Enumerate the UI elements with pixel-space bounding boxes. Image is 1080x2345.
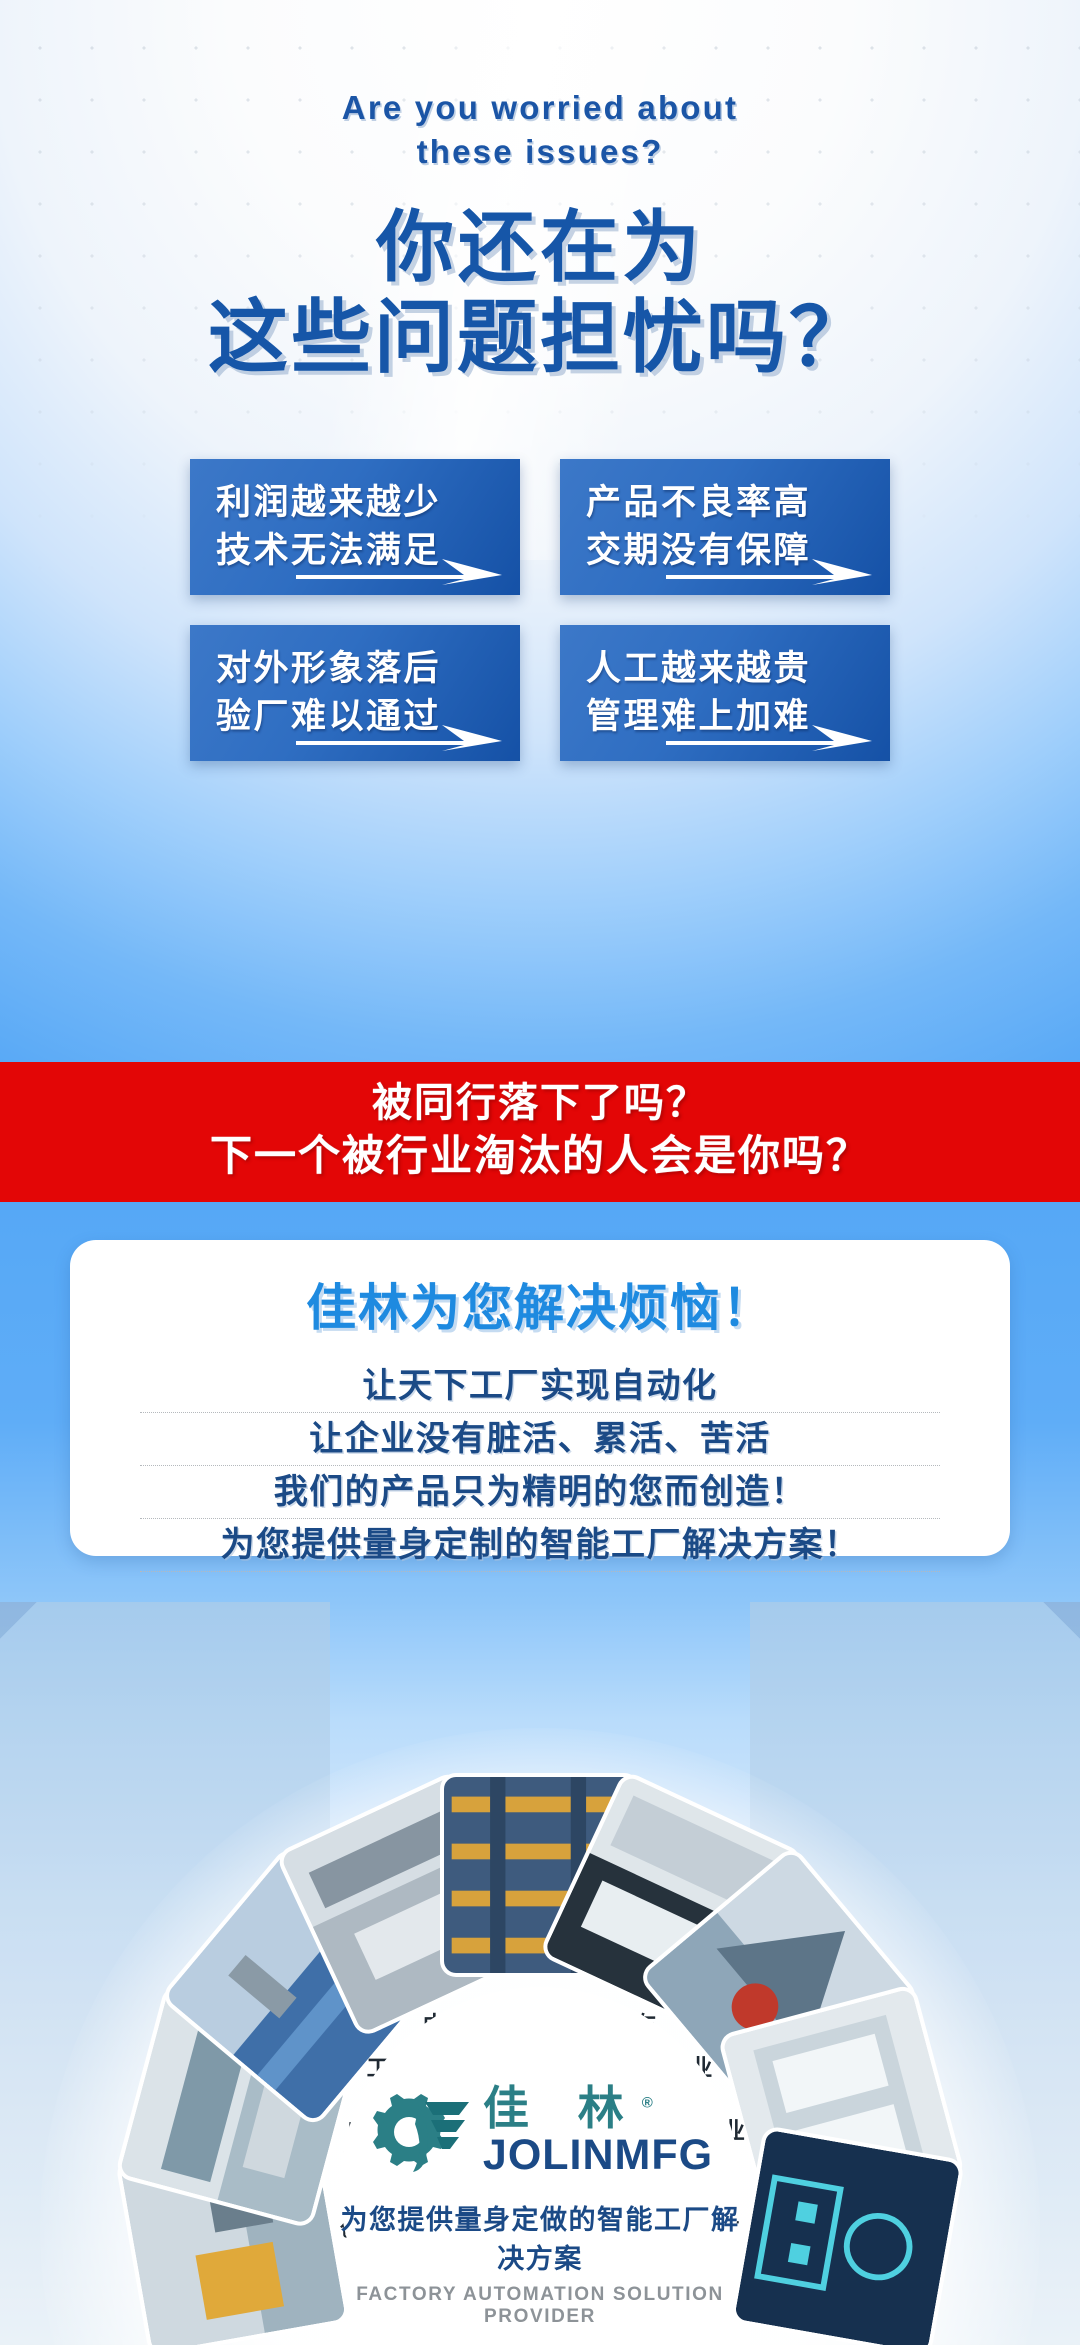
pain-point-card-grid: 利润越来越少 技术无法满足 产品不良率高 交期没有保障 对外形象落后 验厂难以通… bbox=[190, 459, 890, 761]
solution-item-2: 让企业没有脏活、累活、苦活 bbox=[140, 1412, 940, 1465]
solution-item-3: 我们的产品只为精明的您而创造！ bbox=[140, 1465, 940, 1518]
arrow-icon bbox=[666, 721, 876, 751]
pain-point-card-4[interactable]: 人工越来越贵 管理难上加难 bbox=[560, 625, 890, 761]
pain-point-card-1[interactable]: 利润越来越少 技术无法满足 bbox=[190, 459, 520, 595]
headline-line1: 你还在为 bbox=[0, 202, 1080, 292]
card-4-line1: 人工越来越贵 bbox=[586, 645, 890, 693]
brand-name-en: JOLINMFG bbox=[483, 2133, 713, 2178]
headline-line2: 这些问题担忧吗？ bbox=[0, 292, 1080, 385]
red-banner-line1: 被同行落下了吗？ bbox=[0, 1078, 1080, 1129]
capability-wheel-section: 自动化 包装设备 自动化 输送设备 工业智能 制造系统 中央厨房 智造系统 物流 bbox=[0, 1602, 1080, 2345]
solution-panel: 佳林为您解决烦恼！ 让天下工厂实现自动化 让企业没有脏活、累活、苦活 我们的产品… bbox=[70, 1240, 1010, 1556]
card-1-line1: 利润越来越少 bbox=[216, 479, 520, 527]
solution-item-1: 让天下工厂实现自动化 bbox=[140, 1360, 940, 1412]
registered-trademark-icon: ® bbox=[642, 2095, 653, 2112]
brand-tagline-cn: 为您提供量身定做的智能工厂解决方案 bbox=[340, 2198, 740, 2276]
english-eyebrow-line1: Are you worried about bbox=[0, 86, 1080, 130]
red-warning-banner: 被同行落下了吗？ 下一个被行业淘汰的人会是你吗？ bbox=[0, 1062, 1080, 1202]
card-2-line1: 产品不良率高 bbox=[586, 479, 890, 527]
gear-logo-icon bbox=[367, 2086, 475, 2178]
english-eyebrow: Are you worried about these issues? bbox=[0, 86, 1080, 174]
arrow-icon bbox=[666, 555, 876, 585]
arrow-icon bbox=[296, 721, 506, 751]
solution-item-4: 为您提供量身定制的智能工厂解决方案！ bbox=[140, 1518, 940, 1572]
hero-section: Are you worried about these issues? 你还在为… bbox=[0, 0, 1080, 1062]
card-3-line1: 对外形象落后 bbox=[216, 645, 520, 693]
red-banner-line2: 下一个被行业淘汰的人会是你吗？ bbox=[0, 1129, 1080, 1183]
brand-name-cn: 佳 林® bbox=[483, 2085, 713, 2131]
solution-title: 佳林为您解决烦恼！ bbox=[70, 1268, 1010, 1340]
pain-point-card-2[interactable]: 产品不良率高 交期没有保障 bbox=[560, 459, 890, 595]
brand-logo: 佳 林® JOLINMFG bbox=[340, 2085, 740, 2178]
solution-list: 让天下工厂实现自动化 让企业没有脏活、累活、苦活 我们的产品只为精明的您而创造！… bbox=[140, 1360, 940, 1572]
page-title: 你还在为 这些问题担忧吗？ bbox=[0, 202, 1080, 385]
brand-name-cn-text: 佳 林 bbox=[483, 2082, 642, 2134]
english-eyebrow-line2: these issues? bbox=[0, 130, 1080, 174]
brand-tagline-en: FACTORY AUTOMATION SOLUTION PROVIDER bbox=[340, 2284, 740, 2328]
capability-wheel: 自动化 包装设备 自动化 输送设备 工业智能 制造系统 中央厨房 智造系统 物流 bbox=[105, 1752, 975, 2345]
solution-section: 佳林为您解决烦恼！ 让天下工厂实现自动化 让企业没有脏活、累活、苦活 我们的产品… bbox=[0, 1202, 1080, 1602]
brand-wordmark: 佳 林® JOLINMFG bbox=[483, 2085, 713, 2178]
arrow-icon bbox=[296, 555, 506, 585]
pain-point-card-3[interactable]: 对外形象落后 验厂难以通过 bbox=[190, 625, 520, 761]
